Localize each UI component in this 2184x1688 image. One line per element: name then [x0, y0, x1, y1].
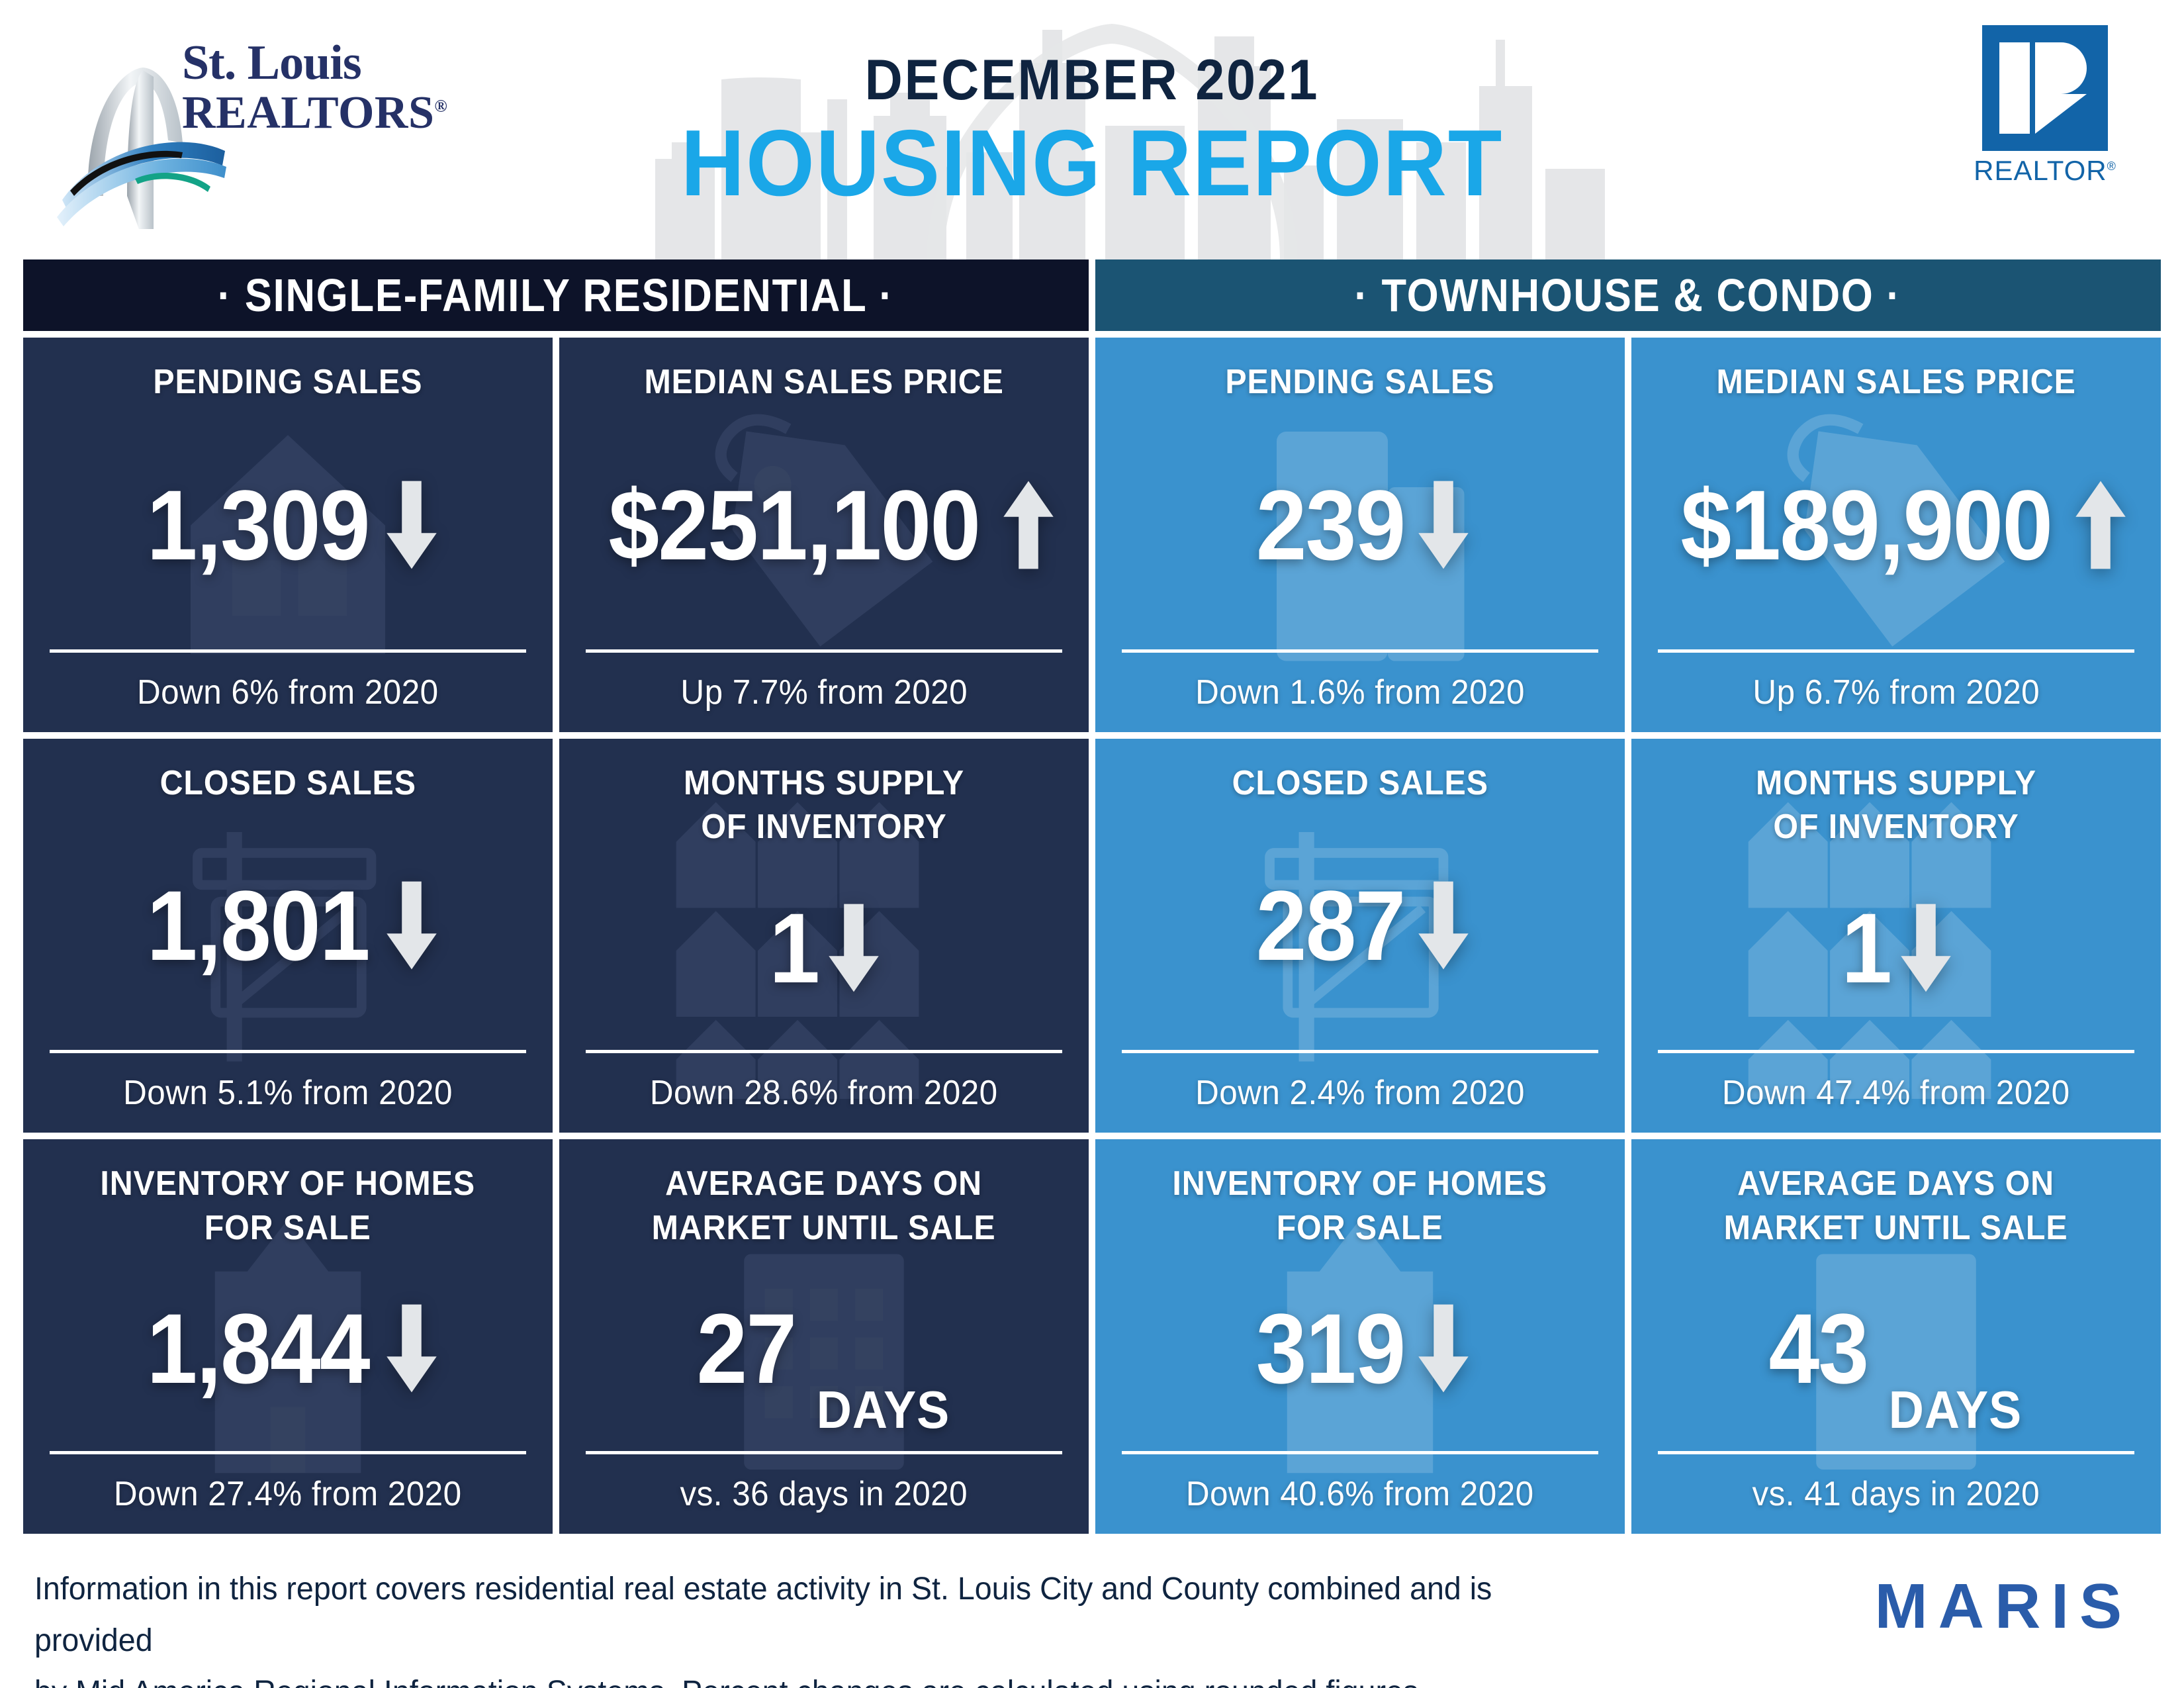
- metric-divider: [1122, 1451, 1598, 1454]
- section-header-townhouse-condo: · TOWNHOUSE & CONDO ·: [1095, 259, 2161, 331]
- metric-card-tc-median-sales-price: MEDIAN SALES PRICE$189,900Up 6.7% from 2…: [1631, 338, 2161, 732]
- up-arrow-icon: [1001, 475, 1056, 575]
- metric-comparison: Down 5.1% from 2020: [123, 1073, 453, 1113]
- metric-label: CLOSED SALES: [159, 761, 416, 806]
- metric-value: 1: [1842, 898, 1891, 998]
- metric-value: 27: [697, 1299, 796, 1398]
- metric-value-row: 1,844: [50, 1250, 526, 1447]
- report-month: DECEMBER 2021: [87, 52, 2097, 109]
- down-arrow-icon: [1899, 898, 1953, 998]
- down-arrow-icon: [385, 475, 439, 575]
- metric-label: MEDIAN SALES PRICE: [644, 360, 1003, 404]
- up-arrow-icon: [2073, 475, 2128, 575]
- realtor-wordmark: REALTOR®: [1969, 155, 2121, 187]
- metric-value: 1,801: [147, 876, 369, 975]
- metric-value-row: $251,100: [586, 404, 1062, 645]
- metric-card-tc-closed-sales: CLOSED SALES287Down 2.4% from 2020: [1095, 739, 1625, 1133]
- metric-label: PENDING SALES: [1225, 360, 1494, 404]
- metrics-grid: · SINGLE-FAMILY RESIDENTIAL · · TOWNHOUS…: [23, 259, 2161, 1534]
- metric-value: 1,309: [147, 475, 369, 575]
- report-footer: Information in this report covers reside…: [0, 1542, 2184, 1688]
- down-arrow-icon: [1416, 876, 1471, 975]
- metric-value: 319: [1256, 1299, 1405, 1398]
- metric-value-row: 1,801: [50, 805, 526, 1046]
- metric-value: $251,100: [609, 475, 980, 575]
- metric-divider: [1658, 1050, 2134, 1053]
- metric-divider: [50, 1050, 526, 1053]
- metric-value-row: 1: [586, 849, 1062, 1047]
- metric-comparison: Down 27.4% from 2020: [114, 1474, 462, 1514]
- metric-card-sfr-avg-days: AVERAGE DAYS ONMARKET UNTIL SALE27DAYSvs…: [559, 1139, 1089, 1534]
- metric-card-tc-avg-days: AVERAGE DAYS ONMARKET UNTIL SALE43DAYSvs…: [1631, 1139, 2161, 1534]
- metric-value: 1: [770, 898, 819, 998]
- metric-comparison: Up 7.7% from 2020: [680, 673, 968, 712]
- metric-divider: [50, 649, 526, 653]
- metric-card-sfr-inventory: INVENTORY OF HOMESFOR SALE1,844Down 27.4…: [23, 1139, 553, 1534]
- metric-value-row: 287: [1122, 805, 1598, 1046]
- metric-card-sfr-pending-sales: PENDING SALES1,309Down 6% from 2020: [23, 338, 553, 732]
- metric-label: AVERAGE DAYS ONMARKET UNTIL SALE: [652, 1162, 996, 1250]
- metric-value: 239: [1256, 475, 1405, 575]
- metric-card-sfr-median-sales-price: MEDIAN SALES PRICE$251,100Up 7.7% from 2…: [559, 338, 1089, 732]
- metric-comparison: Down 2.4% from 2020: [1195, 1073, 1525, 1113]
- metric-divider: [586, 1050, 1062, 1053]
- metric-card-tc-months-supply: MONTHS SUPPLYOF INVENTORY1Down 47.4% fro…: [1631, 739, 2161, 1133]
- metric-label: CLOSED SALES: [1232, 761, 1488, 806]
- metric-divider: [1122, 649, 1598, 653]
- report-title-block: DECEMBER 2021 HOUSING REPORT: [0, 0, 2184, 211]
- metric-divider: [50, 1451, 526, 1454]
- footer-line-2: by Mid America Regional Information Syst…: [34, 1667, 1511, 1688]
- metric-divider: [586, 1451, 1062, 1454]
- metric-divider: [1658, 649, 2134, 653]
- metric-card-sfr-closed-sales: CLOSED SALES1,801Down 5.1% from 2020: [23, 739, 553, 1133]
- metric-value-row: 1: [1658, 849, 2134, 1047]
- footer-line-1: Information in this report covers reside…: [34, 1564, 1511, 1667]
- realtor-r-mark-icon: [1982, 25, 2108, 151]
- metric-value-row: 1,309: [50, 404, 526, 645]
- metric-value: 1,844: [147, 1299, 369, 1398]
- metric-divider: [586, 649, 1062, 653]
- metric-label: MEDIAN SALES PRICE: [1716, 360, 2075, 404]
- metric-value: 287: [1256, 876, 1405, 975]
- page-title: HOUSING REPORT: [66, 117, 2118, 211]
- section-header-single-family: · SINGLE-FAMILY RESIDENTIAL ·: [23, 259, 1089, 331]
- maris-logo: MARIS: [1875, 1570, 2132, 1643]
- metric-unit: DAYS: [817, 1383, 950, 1436]
- metric-label: INVENTORY OF HOMESFOR SALE: [1173, 1162, 1548, 1250]
- down-arrow-icon: [385, 1299, 439, 1398]
- metric-comparison: Down 28.6% from 2020: [650, 1073, 998, 1113]
- metric-label: INVENTORY OF HOMESFOR SALE: [101, 1162, 476, 1250]
- metric-comparison: Down 47.4% from 2020: [1722, 1073, 2070, 1113]
- down-arrow-icon: [385, 876, 439, 975]
- metric-comparison: Down 40.6% from 2020: [1186, 1474, 1534, 1514]
- metric-label: MONTHS SUPPLYOF INVENTORY: [684, 761, 964, 849]
- metric-comparison: vs. 36 days in 2020: [680, 1474, 968, 1514]
- realtor-logo: REALTOR®: [1969, 25, 2121, 187]
- metric-label: AVERAGE DAYS ONMARKET UNTIL SALE: [1724, 1162, 2068, 1250]
- metric-card-tc-pending-sales: PENDING SALES239Down 1.6% from 2020: [1095, 338, 1625, 732]
- metric-value-row: $189,900: [1658, 404, 2134, 645]
- metric-label: PENDING SALES: [153, 360, 422, 404]
- metric-value-row: 43DAYS: [1658, 1250, 2134, 1447]
- metric-comparison: Down 6% from 2020: [137, 673, 439, 712]
- housing-report-infographic: St. Louis REALTORS® DECEMBER 2021 HOUSIN…: [0, 0, 2184, 1688]
- section-title-townhouse-condo: · TOWNHOUSE & CONDO ·: [1355, 269, 1901, 322]
- metric-value-row: 239: [1122, 404, 1598, 645]
- metric-divider: [1122, 1050, 1598, 1053]
- metric-comparison: Up 6.7% from 2020: [1752, 673, 2040, 712]
- metric-value-row: 319: [1122, 1250, 1598, 1447]
- down-arrow-icon: [1416, 475, 1471, 575]
- metric-label: MONTHS SUPPLYOF INVENTORY: [1756, 761, 2036, 849]
- section-title-single-family: · SINGLE-FAMILY RESIDENTIAL ·: [218, 269, 894, 322]
- footer-disclaimer: Information in this report covers reside…: [34, 1564, 1511, 1688]
- report-header: St. Louis REALTORS® DECEMBER 2021 HOUSIN…: [0, 0, 2184, 259]
- metric-value-row: 27DAYS: [586, 1250, 1062, 1447]
- metric-card-sfr-months-supply: MONTHS SUPPLYOF INVENTORY1Down 28.6% fro…: [559, 739, 1089, 1133]
- down-arrow-icon: [1416, 1299, 1471, 1398]
- metric-value: $189,900: [1681, 475, 2052, 575]
- metric-comparison: Down 1.6% from 2020: [1195, 673, 1525, 712]
- metric-comparison: vs. 41 days in 2020: [1752, 1474, 2040, 1514]
- down-arrow-icon: [827, 898, 881, 998]
- metric-divider: [1658, 1451, 2134, 1454]
- metric-unit: DAYS: [1889, 1383, 2022, 1436]
- metric-card-tc-inventory: INVENTORY OF HOMESFOR SALE319Down 40.6% …: [1095, 1139, 1625, 1534]
- metric-value: 43: [1769, 1299, 1868, 1398]
